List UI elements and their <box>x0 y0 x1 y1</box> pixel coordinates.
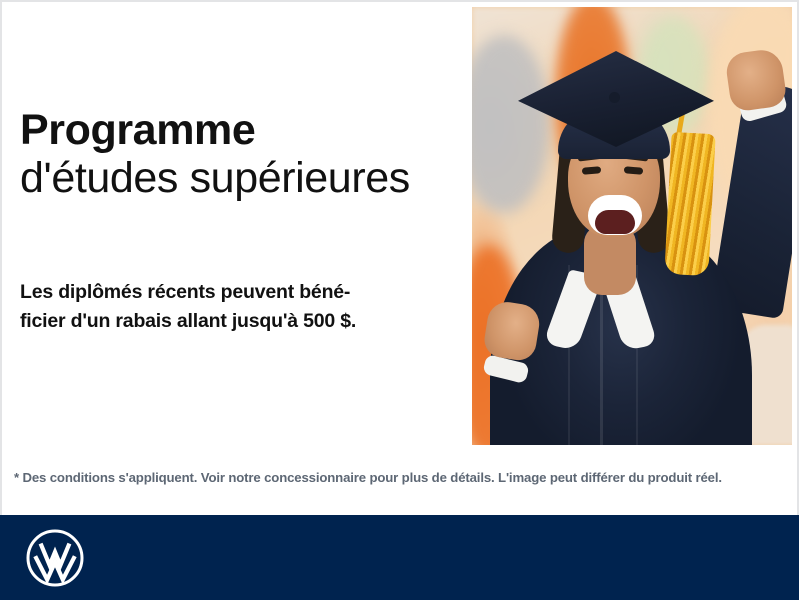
mortarboard-button <box>609 92 620 103</box>
offer-description: Les diplômés récents peuvent béné- ficie… <box>20 278 480 336</box>
legal-disclaimer: * Des conditions s'appliquent. Voir notr… <box>14 470 789 485</box>
banner-content-card: Programme d'études supérieures Les diplô… <box>0 0 799 515</box>
page-title: Programme d'études supérieures <box>20 106 490 202</box>
graduate-photo <box>472 7 792 445</box>
headline-line-1: Programme <box>20 106 490 154</box>
promo-banner: Programme d'études supérieures Les diplô… <box>0 0 799 600</box>
offer-description-line-2: ficier d'un rabais allant jusqu'à 500 $. <box>20 307 480 336</box>
tassel-strands <box>664 132 715 276</box>
headline-line-2: d'études supérieures <box>20 154 490 202</box>
brand-footer <box>0 515 799 600</box>
graduate-smile <box>588 195 642 235</box>
graduate-mouth-inner <box>595 210 635 234</box>
offer-description-line-1: Les diplômés récents peuvent béné- <box>20 278 480 307</box>
vw-logo-icon[interactable] <box>25 528 85 588</box>
